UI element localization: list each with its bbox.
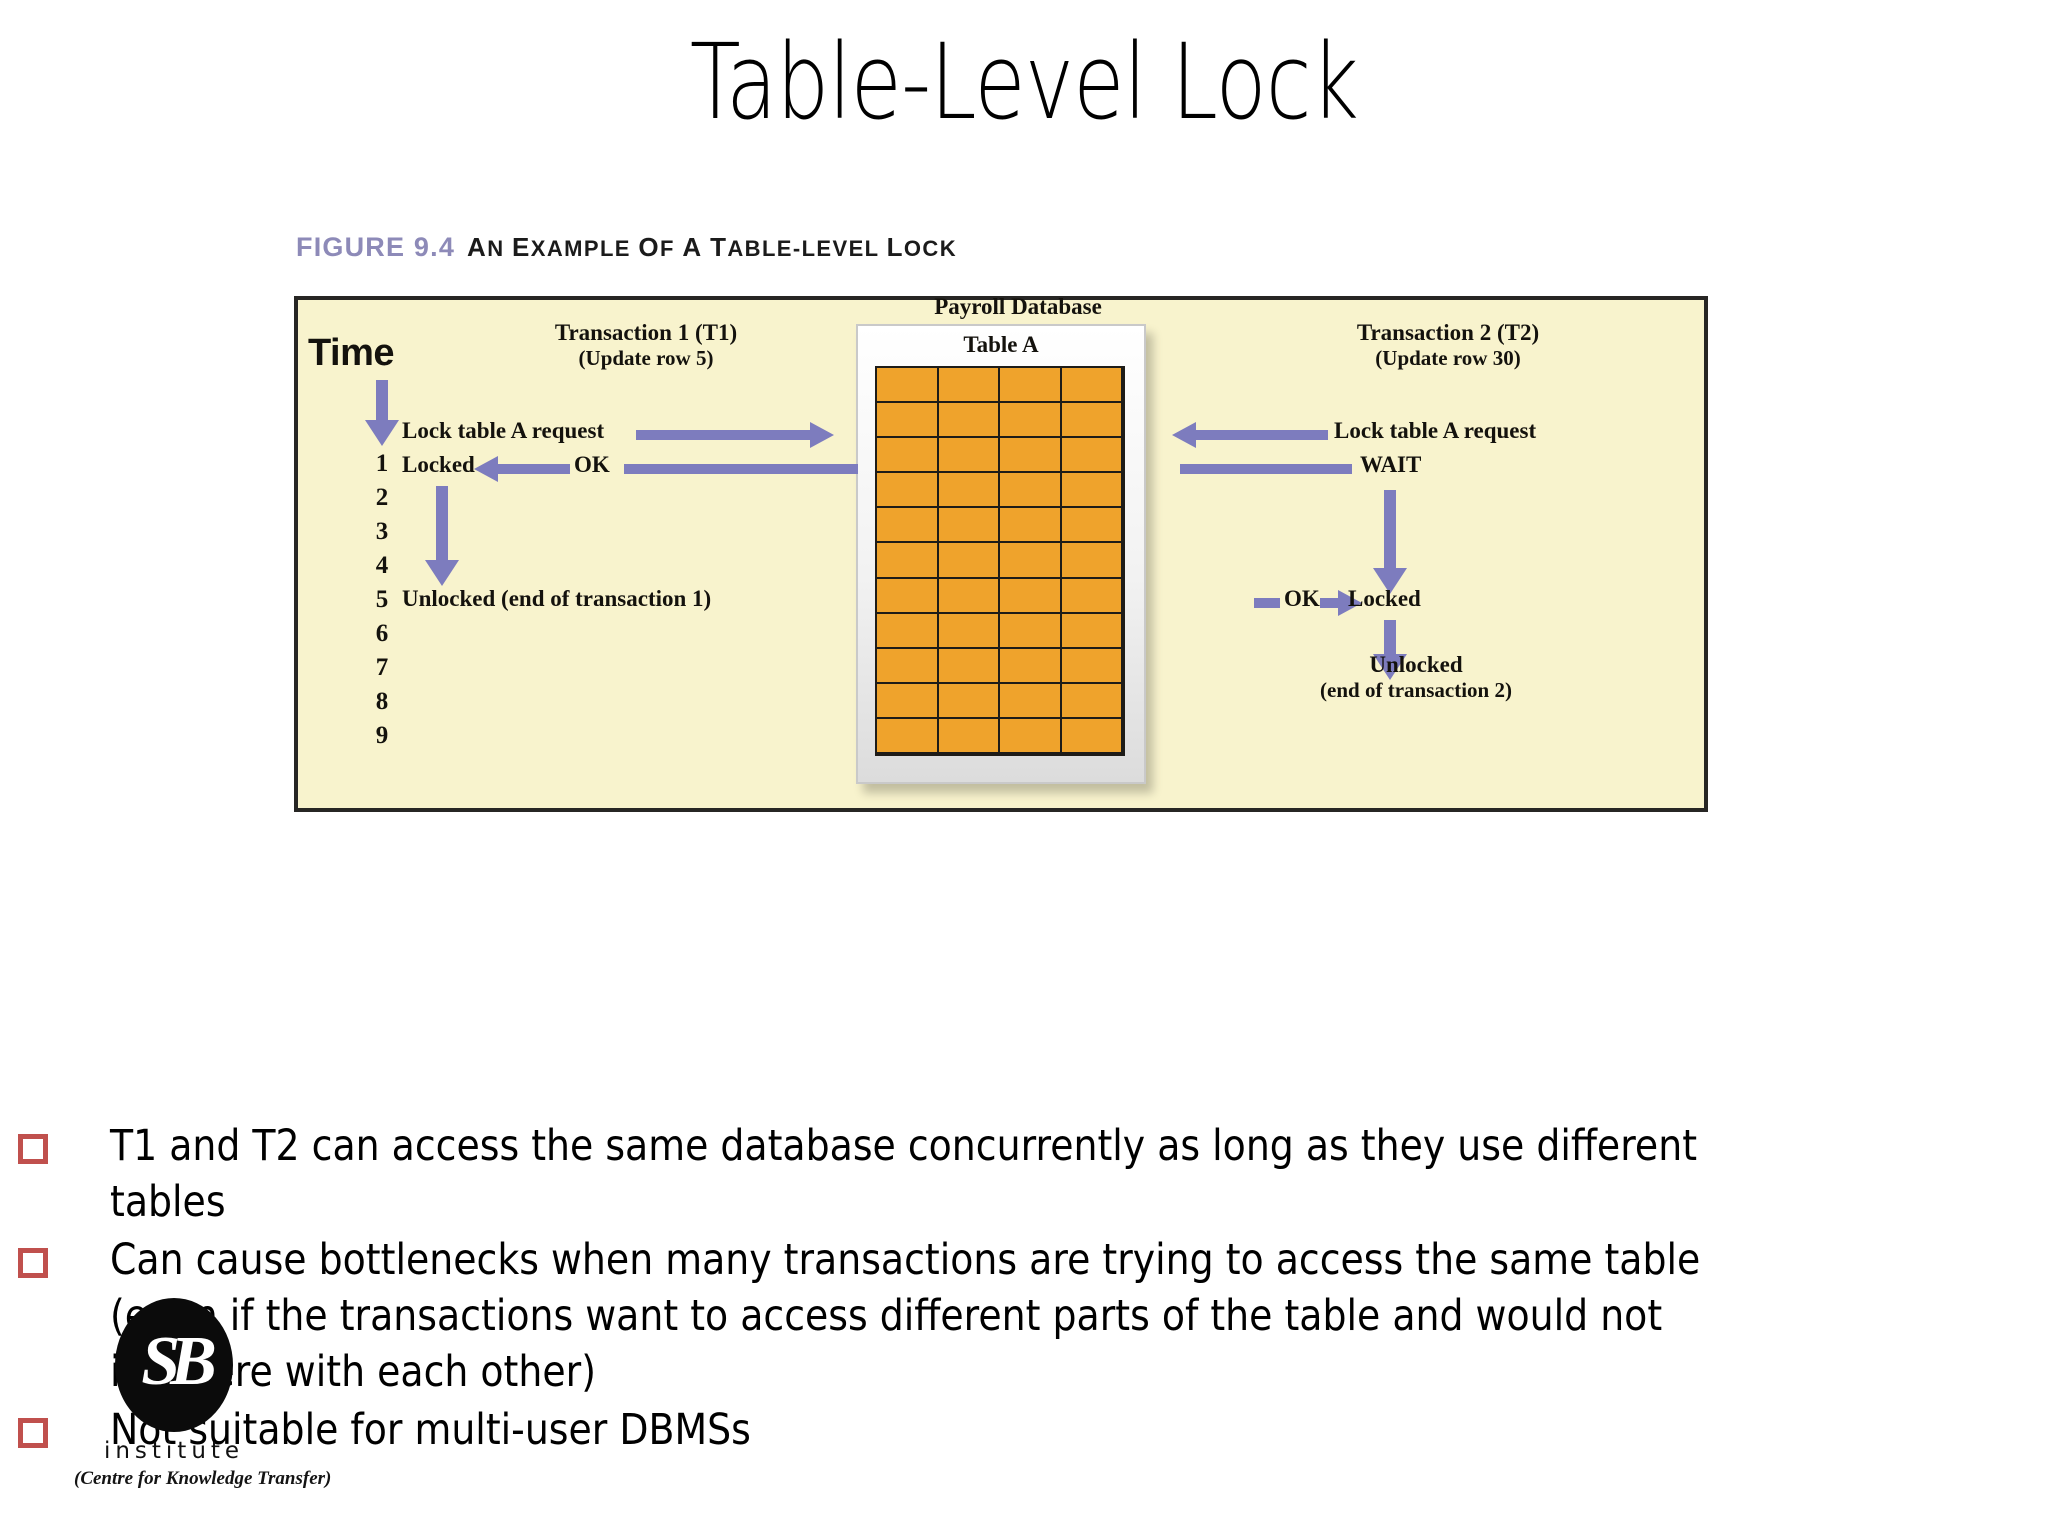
t2-unlocked-line1: Unlocked — [1369, 652, 1462, 677]
time-value-3: 3 — [362, 518, 402, 546]
table-cell — [1000, 719, 1062, 754]
time-value-7: 7 — [362, 654, 402, 682]
time-value-5: 5 — [362, 586, 402, 614]
table-cell — [939, 543, 1001, 578]
table-cell — [939, 438, 1001, 473]
table-cell — [1000, 579, 1062, 614]
t2-wait-duration-arrow-shaft — [1384, 490, 1396, 572]
table-cell — [1062, 684, 1124, 719]
table-a-label: Table A — [858, 332, 1144, 358]
transaction2-subtitle: (Update row 30) — [1298, 346, 1598, 370]
bullet-text-2: Can cause bottlenecks when many transact… — [110, 1232, 1798, 1400]
figure-diagram: Time 1 2 3 4 5 6 7 8 9 Transaction 1 (T1… — [294, 296, 1708, 812]
payroll-database-frame: Table A — [856, 324, 1146, 784]
table-cell — [1000, 614, 1062, 649]
table-cell — [939, 368, 1001, 403]
time-axis-arrow-shaft — [376, 380, 388, 424]
bullet-square-icon — [18, 1248, 48, 1278]
logo-institute-label: institute — [74, 1438, 274, 1464]
table-cell — [877, 368, 939, 403]
list-item: Can cause bottlenecks when many transact… — [18, 1232, 2028, 1400]
table-cell — [939, 684, 1001, 719]
transaction1-title: Transaction 1 (T1) — [555, 320, 737, 345]
time-value-2: 2 — [362, 484, 402, 512]
table-cell — [1062, 579, 1124, 614]
bullet-square-icon — [18, 1134, 48, 1164]
table-cell — [939, 649, 1001, 684]
time-value-1: 1 — [362, 450, 402, 478]
table-cell — [1000, 438, 1062, 473]
table-cell — [1000, 403, 1062, 438]
t2-wait-label: WAIT — [1360, 452, 1421, 478]
figure-number: FIGURE 9.4 — [296, 232, 455, 262]
t1-ok-arrow-shaft-inner — [498, 464, 570, 474]
t1-unlocked-label: Unlocked (end of transaction 1) — [402, 586, 711, 612]
t1-ok-arrow-shaft-outer — [624, 464, 858, 474]
t1-duration-arrow-head — [425, 560, 459, 586]
time-value-9: 9 — [362, 722, 402, 750]
logo-tagline: (Centre for Knowledge Transfer) — [74, 1468, 274, 1490]
table-cell — [1000, 368, 1062, 403]
table-a-grid — [875, 366, 1125, 756]
table-cell — [1062, 543, 1124, 578]
t1-lock-request-arrow-shaft — [636, 430, 812, 440]
table-cell — [939, 403, 1001, 438]
payroll-database-title: Payroll Database — [858, 294, 1178, 320]
bullet-list: T1 and T2 can access the same database c… — [18, 1118, 2028, 1460]
table-cell — [1062, 438, 1124, 473]
time-axis-arrow-head — [365, 420, 399, 446]
table-cell — [1062, 403, 1124, 438]
time-axis-label: Time — [308, 332, 394, 376]
figure-caption: FIGURE 9.4AN EXAMPLE OF A TABLE-LEVEL LO… — [296, 232, 957, 263]
page-title: Table-Level Lock — [205, 20, 1843, 144]
table-cell — [1062, 368, 1124, 403]
bullet-square-icon — [18, 1418, 48, 1448]
table-cell — [877, 649, 939, 684]
table-cell — [1062, 649, 1124, 684]
table-cell — [877, 579, 939, 614]
t2-ok-arrow-shaft-outer — [1320, 598, 1340, 608]
table-cell — [1062, 719, 1124, 754]
table-cell — [1000, 473, 1062, 508]
t2-wait-arrow-shaft — [1180, 464, 1352, 474]
time-value-4: 4 — [362, 552, 402, 580]
table-cell — [1000, 649, 1062, 684]
bullet-text-3: Not suitable for multi-user DBMSs — [110, 1402, 1798, 1458]
table-cell — [877, 614, 939, 649]
table-cell — [1062, 508, 1124, 543]
transaction2-title: Transaction 2 (T2) — [1357, 320, 1539, 345]
table-cell — [939, 579, 1001, 614]
table-cell — [939, 508, 1001, 543]
table-cell — [1000, 684, 1062, 719]
t1-ok-label: OK — [574, 452, 610, 478]
list-item: Not suitable for multi-user DBMSs — [18, 1402, 2028, 1458]
bullet-text-1: T1 and T2 can access the same database c… — [110, 1118, 1798, 1230]
table-cell — [877, 719, 939, 754]
transaction1-header: Transaction 1 (T1) (Update row 5) — [496, 320, 796, 371]
t2-unlocked-line2: (end of transaction 2) — [1286, 678, 1546, 702]
sb-institute-logo: SB institute (Centre for Knowledge Trans… — [74, 1298, 274, 1490]
sb-monogram-icon: SB — [115, 1298, 233, 1432]
table-cell — [1000, 543, 1062, 578]
t1-ok-arrow-head — [474, 456, 498, 482]
time-value-8: 8 — [362, 688, 402, 716]
table-cell — [877, 473, 939, 508]
t2-ok-arrow-shaft-inner — [1254, 598, 1280, 608]
t1-duration-arrow-shaft — [436, 486, 448, 564]
table-cell — [1062, 614, 1124, 649]
t2-lock-request-label: Lock table A request — [1334, 418, 1536, 444]
table-cell — [939, 614, 1001, 649]
table-cell — [1000, 508, 1062, 543]
figure-caption-text: AN EXAMPLE OF A TABLE-LEVEL LOCK — [467, 236, 957, 261]
list-item: T1 and T2 can access the same database c… — [18, 1118, 2028, 1230]
transaction2-header: Transaction 2 (T2) (Update row 30) — [1298, 320, 1598, 371]
t2-locked-label: Locked — [1348, 586, 1421, 612]
t2-ok-label: OK — [1284, 586, 1320, 612]
table-cell — [877, 543, 939, 578]
t2-lock-request-arrow-head — [1172, 422, 1196, 448]
t2-lock-request-arrow-shaft — [1196, 430, 1328, 440]
transaction1-subtitle: (Update row 5) — [496, 346, 796, 370]
t1-lock-request-label: Lock table A request — [402, 418, 604, 444]
table-cell — [877, 684, 939, 719]
table-cell — [1062, 473, 1124, 508]
table-cell — [939, 473, 1001, 508]
t1-locked-label: Locked — [402, 452, 475, 478]
table-cell — [877, 438, 939, 473]
t1-lock-request-arrow-head — [810, 422, 834, 448]
table-cell — [939, 719, 1001, 754]
time-value-6: 6 — [362, 620, 402, 648]
sb-monogram-text: SB — [115, 1327, 233, 1397]
table-cell — [877, 508, 939, 543]
table-cell — [877, 403, 939, 438]
t2-unlocked-label: Unlocked (end of transaction 2) — [1286, 652, 1546, 703]
